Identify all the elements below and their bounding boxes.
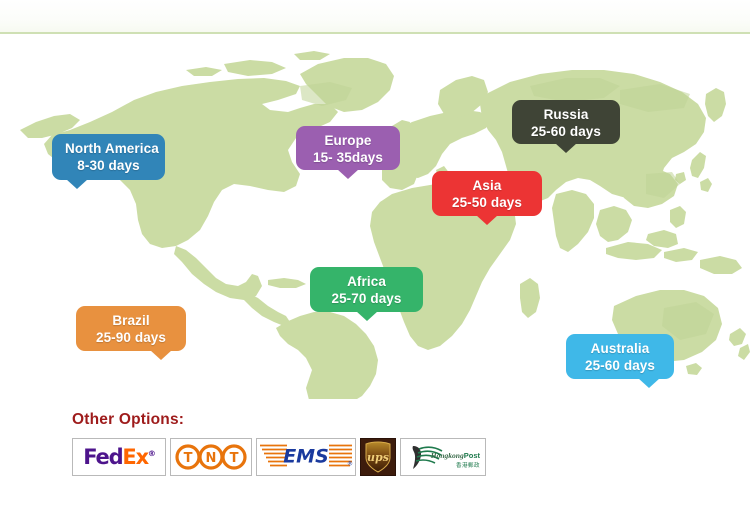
map-label-brazil[interactable]: Brazil 25-90 days [76, 306, 186, 351]
fedex-wordmark: FedEx® [73, 445, 165, 469]
pin-tail [476, 215, 498, 225]
region-name: Russia [525, 107, 607, 123]
landmass-india [552, 190, 594, 252]
region-name: Brazil [89, 313, 173, 329]
pin-tail [337, 169, 359, 179]
carrier-logo-ups[interactable]: ups [360, 438, 396, 476]
landmass-japan [690, 152, 706, 178]
map-label-north-america[interactable]: North America 8-30 days [52, 134, 165, 180]
region-name: Europe [309, 133, 387, 149]
pin-tail [150, 350, 172, 360]
landmass-new-zealand-2 [738, 344, 750, 360]
hongkong-post-wordmark: HongkongPost 香港郵政 [431, 446, 480, 470]
region-days: 8-30 days [65, 158, 152, 174]
landmass-caribbean-1 [268, 278, 306, 288]
world-map-area: North America 8-30 days Europe 15- 35day… [0, 34, 750, 399]
post-text: Post [464, 451, 480, 460]
region-days: 25-70 days [323, 291, 410, 307]
region-days: 25-60 days [525, 124, 607, 140]
region-name: Africa [323, 274, 410, 290]
hongkong-text: Hongkong [431, 451, 464, 460]
landmass-arctic-islands-3 [294, 51, 330, 60]
region-name: Australia [579, 341, 661, 357]
region-name: North America [65, 141, 152, 157]
fedex-registered-mark: ® [148, 449, 155, 458]
ems-text: EMS [283, 446, 329, 468]
region-days: 25-50 days [445, 195, 529, 211]
map-label-asia[interactable]: Asia 25-50 days [432, 171, 542, 216]
landmass-southeast-asia [596, 206, 632, 242]
pin-tail [555, 143, 577, 153]
map-label-africa[interactable]: Africa 25-70 days [310, 267, 423, 312]
top-gradient-wash [0, 0, 750, 32]
landmass-south-america [276, 312, 378, 399]
landmass-central-america [244, 292, 290, 326]
tnt-letter-2: N [206, 451, 217, 466]
other-options-title: Other Options: [72, 411, 184, 429]
map-label-russia[interactable]: Russia 25-60 days [512, 100, 620, 144]
landmass-japan-2 [700, 178, 712, 192]
fedex-fed-text: Fed [83, 445, 122, 469]
region-days: 15- 35days [309, 150, 387, 166]
landmass-indonesia-2 [664, 248, 698, 262]
map-label-europe[interactable]: Europe 15- 35days [296, 126, 400, 170]
landmass-new-guinea [700, 256, 742, 274]
fedex-ex-text: Ex [122, 445, 148, 469]
region-days: 25-60 days [579, 358, 661, 374]
ups-text: ups [367, 451, 389, 464]
tnt-rings-icon: T N T [174, 444, 248, 470]
pin-tail [638, 378, 660, 388]
other-options-section: Other Options: FedEx® T N T [0, 400, 750, 519]
landmass-mexico [174, 246, 262, 300]
pin-tail [66, 179, 88, 189]
landmass-arctic-islands-2 [186, 67, 222, 76]
hongkong-post-chinese-text: 香港郵政 [431, 464, 480, 470]
ups-shield-icon: ups [361, 439, 395, 475]
map-label-australia[interactable]: Australia 25-60 days [566, 334, 674, 379]
ems-wordmark: EMS ® [257, 441, 355, 474]
carrier-logo-tnt[interactable]: T N T [170, 438, 252, 476]
landmass-kamchatka [705, 88, 726, 122]
region-name: Asia [445, 178, 529, 194]
carrier-logo-fedex[interactable]: FedEx® [72, 438, 166, 476]
tnt-letter-3: T [230, 451, 239, 466]
carrier-logo-hongkong-post[interactable]: HongkongPost 香港郵政 [400, 438, 486, 476]
landmass-madagascar [520, 278, 540, 318]
carrier-logo-ems[interactable]: EMS ® [256, 438, 356, 476]
ems-logo-icon: EMS ® [257, 441, 355, 469]
landmass-new-zealand-1 [729, 328, 746, 346]
tnt-letter-1: T [184, 451, 193, 466]
landmass-philippines [670, 206, 686, 228]
landmass-scandinavia [438, 76, 488, 118]
ems-registered-mark: ® [347, 461, 353, 468]
landmass-arctic-islands-1 [224, 60, 286, 76]
pin-tail [356, 311, 378, 321]
region-days: 25-90 days [89, 330, 173, 346]
shipping-map-infographic: North America 8-30 days Europe 15- 35day… [0, 0, 750, 519]
landmass-tasmania [686, 363, 702, 375]
